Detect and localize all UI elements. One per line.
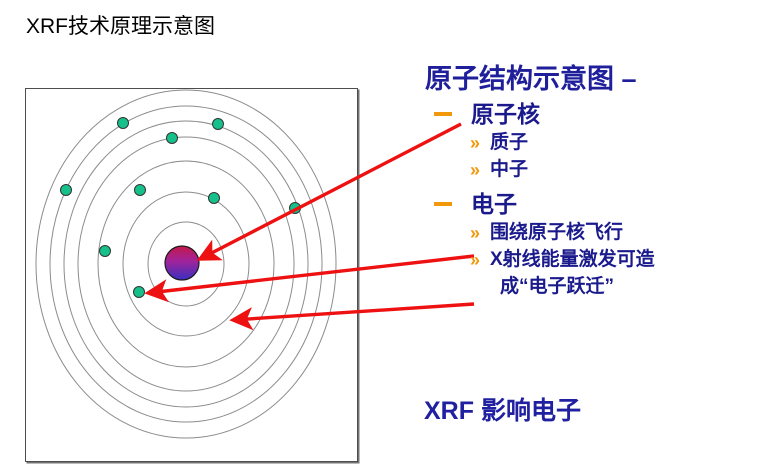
outline-item-electron[interactable]: 电子	[412, 189, 764, 219]
footer-caption: XRF 影响电子	[424, 395, 581, 427]
slide-canvas: XRF技术原理示意图 原子结构示意图 – 原子核 » 质子	[0, 0, 772, 474]
outline-item-nucleus[interactable]: 原子核	[412, 99, 764, 129]
outline-item-neutron[interactable]: » 中子	[412, 156, 764, 183]
atom-diagram-frame	[25, 88, 358, 462]
outline-item-label: 中子	[490, 159, 528, 180]
outline-text-column: 原子结构示意图 – 原子核 » 质子 » 中子 电子 » 围绕原子核飞行 » X…	[412, 62, 764, 300]
outline-item-xray-excitation[interactable]: » X射线能量激发可造 成“电子跃迁”	[412, 246, 764, 300]
outline-item-label: X射线能量激发可造	[490, 249, 655, 270]
dash-bullet-icon	[434, 202, 452, 206]
outline-item-label: 围绕原子核飞行	[490, 222, 623, 243]
outline-item-orbiting[interactable]: » 围绕原子核飞行	[412, 219, 764, 246]
outline-item-label: 电子	[471, 191, 517, 217]
chevron-bullet-icon: »	[470, 157, 480, 184]
outline-item-proton[interactable]: » 质子	[412, 129, 764, 156]
chevron-bullet-icon: »	[470, 247, 480, 274]
dash-bullet-icon	[434, 112, 452, 116]
outline-item-label: 原子核	[471, 101, 540, 127]
outline-item-label-continued: 成“电子跃迁”	[490, 273, 764, 300]
outline-heading: 原子结构示意图 –	[425, 62, 764, 96]
outline-item-label: 质子	[490, 132, 528, 153]
page-title: XRF技术原理示意图	[26, 14, 215, 40]
chevron-bullet-icon: »	[470, 130, 480, 157]
chevron-bullet-icon: »	[470, 220, 480, 247]
